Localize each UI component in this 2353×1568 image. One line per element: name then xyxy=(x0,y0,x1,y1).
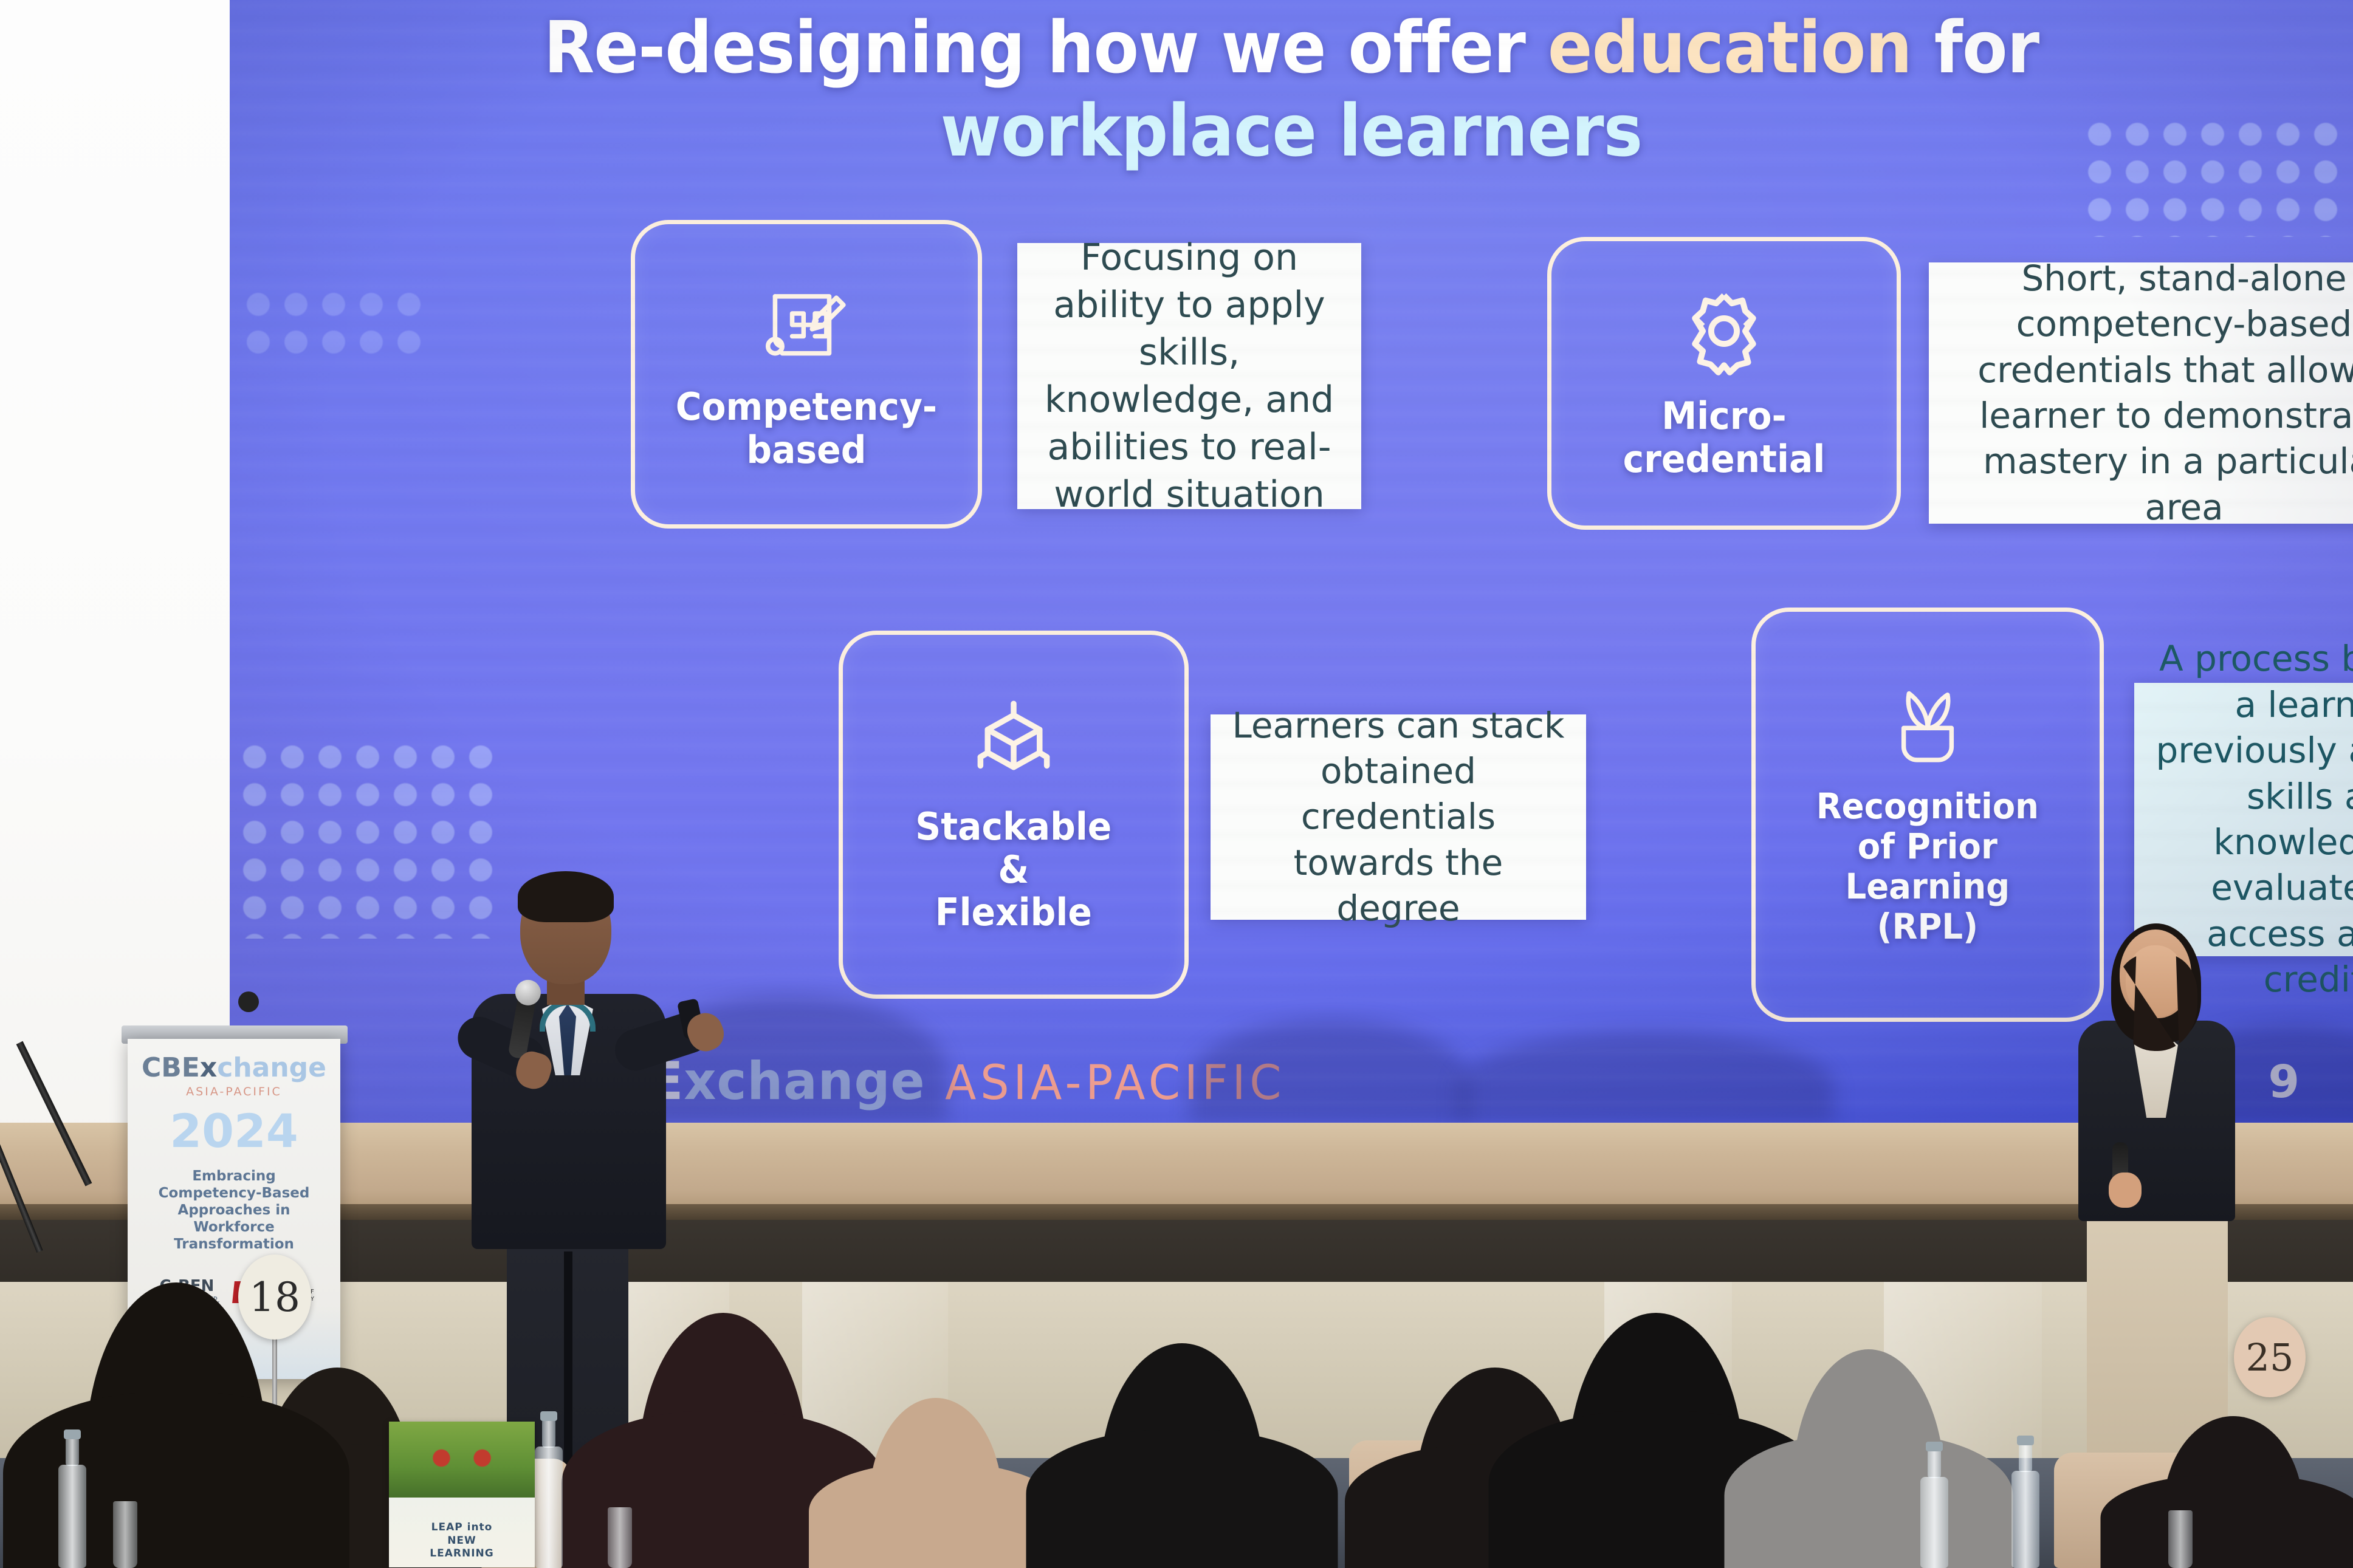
podium-region: ASIA-PACIFIC xyxy=(136,1085,332,1098)
potted-plant-icon xyxy=(1885,683,1970,768)
description-text: Focusing on ability to apply skills, kno… xyxy=(1033,234,1345,518)
card-micro-credential: Micro- credential xyxy=(1547,237,1901,530)
drinking-glass xyxy=(608,1507,632,1568)
speaker-hair xyxy=(518,871,614,922)
conference-photo-scene: Re-designing how we offer education for … xyxy=(0,0,2353,1568)
slide-title-line1-post: for xyxy=(1912,5,2039,89)
water-bottle xyxy=(535,1446,563,1568)
description-box-competency-based: Focusing on ability to apply skills, kno… xyxy=(1017,243,1361,509)
card-label: Stackable & Flexible xyxy=(915,806,1111,934)
stage-fascia xyxy=(0,1123,2353,1220)
card-label: Recognition of Prior Learning (RPL) xyxy=(1816,786,2039,947)
moderator-standing xyxy=(2066,930,2248,1233)
dot-grid-decoration-top-left xyxy=(239,286,434,365)
card-competency-based: Competency- based xyxy=(631,220,982,529)
water-bottle xyxy=(1920,1477,1948,1568)
podium-logo: CBExchange xyxy=(136,1055,332,1081)
blueprint-pencil-icon xyxy=(761,276,852,368)
table-number-paddle-far: 25 xyxy=(2234,1317,2306,1397)
description-text: Short, stand-alone competency-based cred… xyxy=(1945,256,2353,530)
water-bottle xyxy=(2011,1471,2039,1568)
slide-title-line1-pre: Re-designing how we offer xyxy=(544,5,1548,89)
cast-shadow xyxy=(1457,1032,1834,1123)
slide-title: Re-designing how we offer education for … xyxy=(315,6,2268,173)
podium-tagline: Embracing Competency-Based Approaches in… xyxy=(136,1168,332,1253)
podium-year: 2024 xyxy=(136,1108,332,1154)
dot-grid-decoration-bottom-left xyxy=(236,738,497,939)
moderator-hand xyxy=(2109,1173,2142,1208)
cube-icon xyxy=(967,695,1060,787)
frog-illustration xyxy=(389,1422,535,1498)
slide-title-accent-education: education xyxy=(1548,5,1912,89)
water-bottle xyxy=(58,1465,86,1568)
table-card-text: LEAP into NEW LEARNING xyxy=(389,1521,535,1560)
card-recognition-prior-learning: Recognition of Prior Learning (RPL) xyxy=(1751,608,2104,1022)
podium-logo-change: change xyxy=(217,1052,326,1083)
slide-title-line2: workplace learners xyxy=(941,89,1643,173)
drinking-glass xyxy=(2168,1510,2193,1568)
card-label: Micro- credential xyxy=(1623,395,1826,481)
table-number-paddle-near: 18 xyxy=(238,1255,311,1340)
description-box-recognition-prior-learning: A process by which a learner’s previousl… xyxy=(2134,683,2353,956)
description-text: Learners can stack obtained credentials … xyxy=(1226,703,1570,932)
podium-logo-cbe: CBE xyxy=(142,1052,200,1083)
card-label: Competency- based xyxy=(676,386,937,471)
microphone-head xyxy=(238,991,259,1012)
description-box-stackable-flexible: Learners can stack obtained credentials … xyxy=(1211,714,1586,920)
cast-shadow xyxy=(1190,1019,1469,1123)
card-stackable-flexible: Stackable & Flexible xyxy=(839,631,1189,999)
gear-icon xyxy=(1678,286,1770,377)
drinking-glass xyxy=(113,1501,137,1568)
podium-logo-x: x xyxy=(200,1052,217,1083)
table-tent-card: LEAP into NEW LEARNING xyxy=(389,1422,535,1567)
description-box-micro-credential: Short, stand-alone competency-based cred… xyxy=(1929,262,2353,524)
speaker-presenter xyxy=(462,875,717,1245)
